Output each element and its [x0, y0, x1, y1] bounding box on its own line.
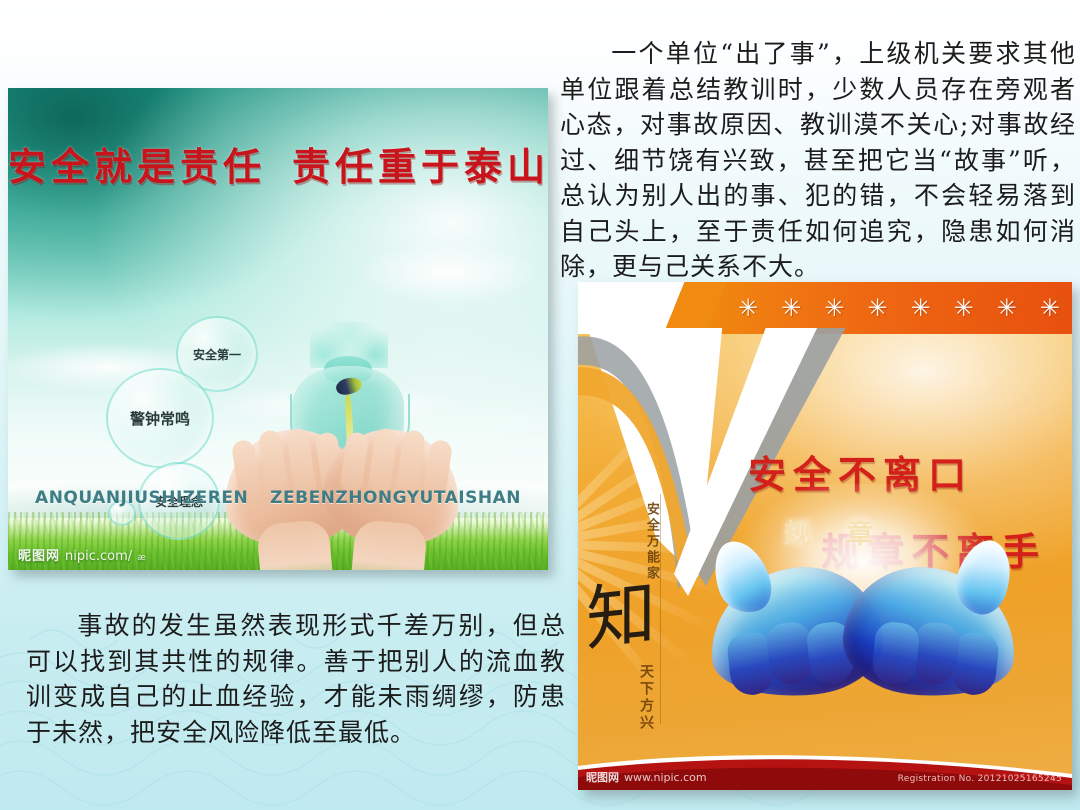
right-poster-image[interactable]: ✳ ✳ ✳ ✳ ✳ ✳ ✳ ✳ ✳ [578, 282, 1072, 790]
crystal-finger [870, 620, 920, 686]
bubble-label: 警钟常鸣 [130, 408, 190, 429]
top-right-paragraph-text: 一个单位“出了事”，上级机关要求其他单位跟着总结教训时，少数人员存在旁观者心态，… [560, 39, 1076, 281]
left-poster-image[interactable]: 安全就是责任责任重于泰山 [8, 88, 548, 570]
finger [339, 431, 369, 491]
asterisk-icon: ✳ [997, 294, 1017, 322]
poster-orange-body: 安全万能家 知 天下方兴 安全不离口 规章不离手 [578, 334, 1072, 790]
asterisk-row: ✳ ✳ ✳ ✳ ✳ ✳ ✳ ✳ ✳ [738, 282, 1056, 334]
left-poster-title: 安全就是责任责任重于泰山 [8, 136, 548, 191]
brush-character: 知 [586, 571, 656, 661]
watermark-brand: 昵图网 [586, 769, 619, 785]
vertical-text-top: 安全万能家 [624, 502, 658, 582]
asterisk-icon: ✳ [781, 294, 801, 322]
brush-calligraphy-character: 知 [586, 579, 681, 669]
left-poster-title-part2: 责任重于泰山 [292, 144, 548, 189]
left-poster-title-part1: 安全就是责任 [8, 144, 266, 189]
bubble-alarm-bell: 警钟常鸣 [106, 368, 214, 468]
vertical-text-bottom: 天下方兴 [622, 664, 656, 732]
watermark-suffix: æ [137, 553, 146, 563]
vertical-text-bottom-main: 天下方兴 [638, 664, 654, 732]
bubble-label: 安全第一 [193, 346, 241, 363]
asterisk-icon: ✳ [738, 294, 758, 322]
bottom-left-paragraph: 事故的发生虽然表现形式千差万别，但总可以找到其共性的规律。善于把别人的流血教训变… [26, 608, 566, 750]
watermark-url: nipic.com/ [65, 549, 132, 564]
asterisk-icon: ✳ [910, 294, 930, 322]
left-poster-watermark: 昵图网 nipic.com/ æ [18, 545, 146, 564]
asterisk-icon: ✳ [824, 294, 844, 322]
right-poster-watermark: 昵图网 www.nipic.com [586, 769, 707, 785]
hands-label-regulation: 规 章 [784, 512, 886, 551]
asterisk-icon: ✳ [954, 294, 974, 322]
bottom-left-paragraph-text: 事故的发生虽然表现形式千差万别，但总可以找到其共性的规律。善于把别人的流血教训变… [26, 611, 566, 747]
pinyin-part1: ANQUANJIUSHIZEREN [35, 488, 248, 508]
vertical-text-top-main: 安全万能家 [644, 502, 659, 582]
crystal-hands-illustration [710, 540, 1016, 716]
top-right-paragraph: 一个单位“出了事”，上级机关要求其他单位跟着总结教训时，少数人员存在旁观者心态，… [560, 36, 1076, 285]
asterisk-icon: ✳ [867, 294, 887, 322]
slide-canvas: 安全就是责任责任重于泰山 [0, 0, 1080, 810]
slogan-line-1: 安全不离口 [740, 444, 1050, 499]
watermark-url: www.nipic.com [624, 771, 707, 784]
registration-id: Registration No. 20121025165245 [898, 774, 1062, 784]
asterisk-icon: ✳ [1040, 294, 1060, 322]
pinyin-part2: ZEBENZHONGYUTAISHAN [270, 488, 521, 508]
watermark-brand: 昵图网 [18, 545, 60, 564]
left-poster-pinyin: ANQUANJIUSHIZERENZEBENZHONGYUTAISHAN [8, 488, 548, 508]
